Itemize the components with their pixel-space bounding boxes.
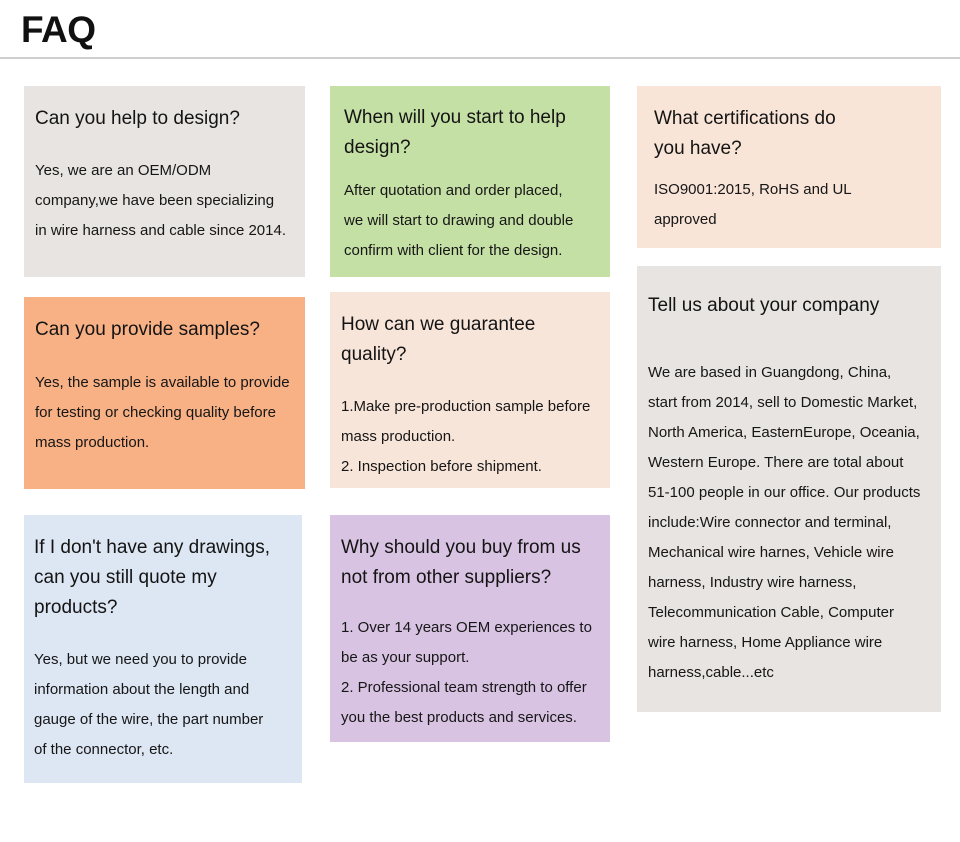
faq-question: If I don't have any drawings, can you st… bbox=[34, 533, 292, 623]
faq-card-start-help: When will you start to help design? Afte… bbox=[330, 86, 610, 277]
faq-question: Why should you buy from us not from othe… bbox=[341, 533, 598, 593]
faq-answer: Yes, the sample is available to provide … bbox=[35, 368, 295, 458]
faq-card-why-buy: Why should you buy from us not from othe… bbox=[330, 515, 610, 742]
faq-card-drawings: If I don't have any drawings, can you st… bbox=[24, 515, 302, 783]
faq-question: Can you provide samples? bbox=[35, 315, 295, 345]
faq-question: How can we guarantee quality? bbox=[341, 310, 598, 370]
faq-answer: ISO9001:2015, RoHS and UL approved bbox=[654, 175, 927, 235]
faq-card-samples: Can you provide samples? Yes, the sample… bbox=[24, 297, 305, 489]
faq-card-quality: How can we guarantee quality? 1.Make pre… bbox=[330, 292, 610, 488]
faq-answer: Yes, but we need you to provide informat… bbox=[34, 645, 292, 765]
faq-card-company: Tell us about your company We are based … bbox=[637, 266, 941, 712]
faq-question: What certifications do you have? bbox=[654, 104, 927, 164]
header-divider bbox=[0, 57, 960, 59]
faq-answer: 1.Make pre-production sample before mass… bbox=[341, 392, 598, 482]
faq-answer: Yes, we are an OEM/ODM company,we have b… bbox=[35, 156, 291, 246]
faq-question: Tell us about your company bbox=[648, 291, 927, 321]
page-header: FAQ bbox=[0, 0, 960, 60]
faq-question: When will you start to help design? bbox=[344, 103, 598, 163]
page-title: FAQ bbox=[21, 8, 96, 52]
faq-answer: After quotation and order placed, we wil… bbox=[344, 176, 598, 266]
faq-question: Can you help to design? bbox=[35, 104, 291, 134]
faq-card-certifications: What certifications do you have? ISO9001… bbox=[637, 86, 941, 248]
faq-answer: We are based in Guangdong, China, start … bbox=[648, 358, 927, 688]
faq-card-design: Can you help to design? Yes, we are an O… bbox=[24, 86, 305, 277]
faq-answer: 1. Over 14 years OEM experiences to be a… bbox=[341, 613, 598, 733]
